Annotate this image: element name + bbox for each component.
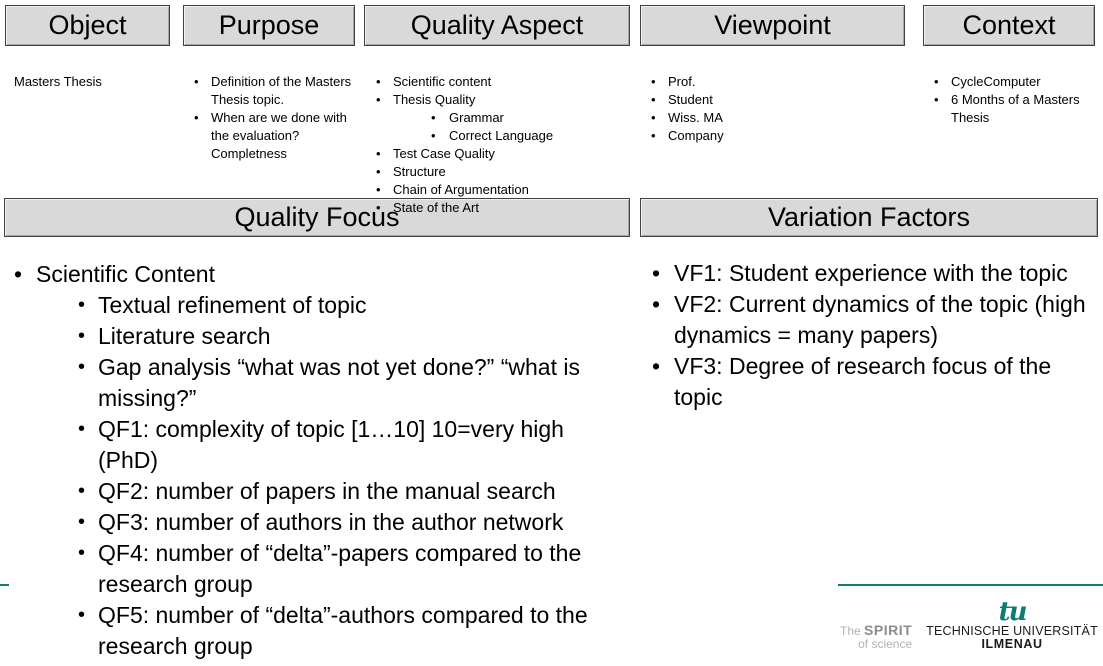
column-purpose-body: • Definition of the Masters Thesis topic…	[191, 73, 359, 163]
header-viewpoint-label: Viewpoint	[714, 12, 831, 39]
bullet-icon: •	[78, 476, 85, 507]
quality-aspect-item: • Scientific content	[373, 73, 635, 91]
header-purpose-label: Purpose	[219, 12, 320, 39]
quality-focus-root-text: Scientific Content	[36, 261, 215, 287]
purpose-item: • Definition of the Masters Thesis topic…	[191, 73, 359, 109]
variation-factor-text: VF3: Degree of research focus of the top…	[674, 353, 1051, 410]
bullet-icon: •	[431, 127, 436, 145]
bullet-icon: •	[934, 73, 939, 91]
viewpoint-item-text: Prof.	[668, 74, 695, 89]
column-context-body: • CycleComputer • 6 Months of a Masters …	[931, 73, 1091, 127]
spirit-of-science: of science	[840, 638, 912, 652]
quality-aspect-list: • Scientific content • Thesis Quality • …	[373, 73, 635, 217]
header-quality-aspect-label: Quality Aspect	[411, 12, 584, 39]
viewpoint-item: • Company	[648, 127, 898, 145]
context-item: • 6 Months of a Masters Thesis	[931, 91, 1091, 127]
footer-logos: The SPIRIT of science tu TECHNISCHE UNIV…	[840, 598, 1098, 652]
bullet-icon: •	[194, 73, 199, 91]
header-object: Object	[5, 5, 170, 46]
header-quality-aspect: Quality Aspect	[364, 5, 630, 46]
quality-focus-item: • QF2: number of papers in the manual se…	[36, 476, 630, 507]
variation-factor-text: VF2: Current dynamics of the topic (high…	[674, 291, 1086, 348]
bullet-icon: •	[934, 91, 939, 109]
bullet-icon: •	[78, 321, 85, 352]
variation-factor-item: • VF2: Current dynamics of the topic (hi…	[650, 289, 1088, 351]
quality-focus-item: • QF3: number of authors in the author n…	[36, 507, 630, 538]
bullet-icon: •	[651, 91, 656, 109]
quality-focus-item: • Gap analysis “what was not yet done?” …	[36, 352, 630, 414]
variation-factor-text: VF1: Student experience with the topic	[674, 260, 1068, 286]
header-variation-factors-label: Variation Factors	[768, 204, 970, 231]
quality-focus-item-text: QF3: number of authors in the author net…	[98, 509, 563, 535]
quality-focus-item: • Textual refinement of topic	[36, 290, 630, 321]
quality-focus-item-text: Textual refinement of topic	[98, 292, 366, 318]
quality-aspect-item: • Structure	[373, 163, 635, 181]
bullet-icon: •	[376, 199, 381, 217]
header-purpose: Purpose	[183, 5, 355, 46]
quality-aspect-item: • Thesis Quality • Grammar • Correct Lan…	[373, 91, 635, 145]
bullet-icon: •	[431, 109, 436, 127]
bullet-icon: •	[651, 73, 656, 91]
quality-aspect-item-text: Test Case Quality	[393, 146, 495, 161]
purpose-item: • When are we done with the evaluation? …	[191, 109, 359, 163]
bullet-icon: •	[376, 163, 381, 181]
quality-focus-list: • Scientific Content • Textual refinemen…	[12, 259, 630, 662]
quality-focus-item-text: Gap analysis “what was not yet done?” “w…	[98, 354, 580, 411]
bullet-icon: •	[78, 352, 85, 383]
bullet-icon: •	[652, 351, 660, 382]
column-quality-aspect-body: • Scientific content • Thesis Quality • …	[373, 73, 635, 217]
header-context: Context	[923, 5, 1095, 46]
context-item: • CycleComputer	[931, 73, 1091, 91]
variation-factor-item: • VF3: Degree of research focus of the t…	[650, 351, 1088, 413]
quality-aspect-item: • Test Case Quality	[373, 145, 635, 163]
quality-aspect-sublist: • Grammar • Correct Language	[393, 109, 635, 145]
bullet-icon: •	[78, 290, 85, 321]
quality-aspect-item-text: Scientific content	[393, 74, 491, 89]
quality-aspect-subitem-text: Correct Language	[449, 128, 553, 143]
quality-focus-item-text: QF5: number of “delta”-authors compared …	[98, 602, 588, 659]
slide-canvas: Object Purpose Quality Aspect Viewpoint …	[0, 0, 1103, 666]
quality-aspect-item-text: Chain of Argumentation	[393, 182, 529, 197]
quality-focus-item: • QF1: complexity of topic [1…10] 10=ver…	[36, 414, 630, 476]
header-viewpoint: Viewpoint	[640, 5, 905, 46]
header-object-label: Object	[48, 12, 126, 39]
quality-focus-item: • QF4: number of “delta”-papers compared…	[36, 538, 630, 600]
quality-focus-item-text: QF4: number of “delta”-papers compared t…	[98, 540, 581, 597]
quality-focus-sublist: • Textual refinement of topic • Literatu…	[36, 290, 630, 662]
tu-ilmenau-logo: tu TECHNISCHE UNIVERSITÄT ILMENAU	[926, 598, 1098, 652]
bullet-icon: •	[651, 109, 656, 127]
quality-focus-item: • Literature search	[36, 321, 630, 352]
column-viewpoint-body: • Prof. • Student • Wiss. MA • Company	[648, 73, 898, 145]
quality-focus-item-text: Literature search	[98, 323, 271, 349]
bullet-icon: •	[376, 73, 381, 91]
panel-variation-factors-body: • VF1: Student experience with the topic…	[650, 258, 1088, 413]
variation-factors-list: • VF1: Student experience with the topic…	[650, 258, 1088, 413]
tu-mark-icon: tu	[926, 598, 1098, 627]
bullet-icon: •	[651, 127, 656, 145]
viewpoint-item: • Prof.	[648, 73, 898, 91]
purpose-item-text: When are we done with the evaluation? Co…	[211, 110, 347, 161]
viewpoint-list: • Prof. • Student • Wiss. MA • Company	[648, 73, 898, 145]
bullet-icon: •	[78, 507, 85, 538]
bullet-icon: •	[376, 91, 381, 109]
quality-aspect-item: • State of the Art	[373, 199, 635, 217]
bullet-icon: •	[78, 414, 85, 445]
tu-line1: TECHNISCHE UNIVERSITÄT	[926, 625, 1098, 639]
context-item-text: 6 Months of a Masters Thesis	[951, 92, 1080, 125]
bullet-icon: •	[652, 258, 660, 289]
bullet-icon: •	[194, 109, 199, 127]
quality-aspect-subitem-text: Grammar	[449, 110, 504, 125]
quality-aspect-item-text: Structure	[393, 164, 446, 179]
accent-rule	[838, 584, 1103, 586]
bullet-icon: •	[78, 538, 85, 569]
quality-aspect-item-text: Thesis Quality	[393, 92, 475, 107]
quality-focus-item-text: QF1: complexity of topic [1…10] 10=very …	[98, 416, 564, 473]
variation-factor-item: • VF1: Student experience with the topic	[650, 258, 1088, 289]
spirit-word: SPIRIT	[864, 622, 912, 638]
accent-tick-left	[0, 584, 9, 586]
quality-aspect-item: • Chain of Argumentation	[373, 181, 635, 199]
viewpoint-item-text: Wiss. MA	[668, 110, 723, 125]
quality-aspect-item-text: State of the Art	[393, 200, 479, 215]
spirit-the: The	[840, 624, 864, 638]
column-object-body: Masters Thesis	[14, 73, 174, 91]
context-list: • CycleComputer • 6 Months of a Masters …	[931, 73, 1091, 127]
tu-line2: ILMENAU	[926, 638, 1098, 652]
context-item-text: CycleComputer	[951, 74, 1041, 89]
header-context-label: Context	[962, 12, 1055, 39]
panel-quality-focus-body: • Scientific Content • Textual refinemen…	[12, 259, 630, 662]
bullet-icon: •	[376, 181, 381, 199]
quality-aspect-subitem: • Grammar	[393, 109, 635, 127]
purpose-item-text: Definition of the Masters Thesis topic.	[211, 74, 351, 107]
viewpoint-item: • Student	[648, 91, 898, 109]
spirit-of-science-logo: The SPIRIT of science	[840, 622, 912, 653]
quality-focus-root-item: • Scientific Content • Textual refinemen…	[12, 259, 630, 662]
bullet-icon: •	[14, 259, 22, 290]
purpose-list: • Definition of the Masters Thesis topic…	[191, 73, 359, 163]
quality-aspect-subitem: • Correct Language	[393, 127, 635, 145]
bullet-icon: •	[652, 289, 660, 320]
viewpoint-item-text: Company	[668, 128, 724, 143]
quality-focus-item: • QF5: number of “delta”-authors compare…	[36, 600, 630, 662]
viewpoint-item: • Wiss. MA	[648, 109, 898, 127]
quality-focus-item-text: QF2: number of papers in the manual sear…	[98, 478, 556, 504]
viewpoint-item-text: Student	[668, 92, 713, 107]
object-item-0: Masters Thesis	[14, 73, 174, 91]
header-variation-factors: Variation Factors	[640, 198, 1098, 237]
bullet-icon: •	[78, 600, 85, 631]
bullet-icon: •	[376, 145, 381, 163]
